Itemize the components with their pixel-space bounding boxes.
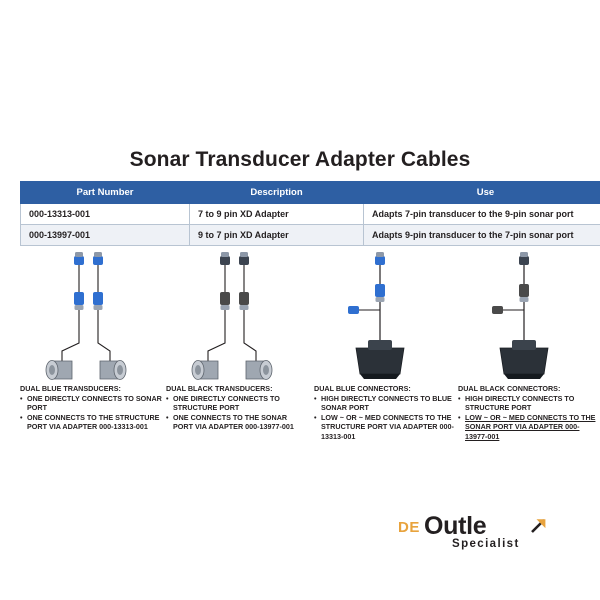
- bullet-dot: •: [458, 413, 465, 423]
- bullet-dot: •: [458, 394, 465, 404]
- column-header-description: Description: [190, 182, 364, 204]
- bullet-dot: •: [314, 394, 321, 404]
- figure-dual-blue-transducers: DUAL BLUE TRANSDUCERS: • ONE DIRECTLY CO…: [14, 248, 164, 463]
- caption-heading: DUAL BLUE TRANSDUCERS:: [20, 384, 162, 394]
- page-title: Sonar Transducer Adapter Cables: [0, 148, 600, 172]
- dual-transducer-diagram-icon: [160, 248, 310, 383]
- bullet-dot: •: [166, 394, 173, 404]
- bullet-dot: •: [20, 394, 27, 404]
- caption-bullet: • LOW ~ OR ~ MED CONNECTS TO THE STRUCTU…: [314, 413, 456, 442]
- cell-part-number: 000-13313-001: [21, 204, 190, 225]
- caption-bullet-text: HIGH DIRECTLY CONNECTS TO BLUE SONAR POR…: [321, 394, 456, 413]
- caption-heading: DUAL BLUE CONNECTORS:: [314, 384, 456, 394]
- caption-bullet-text: ONE DIRECTLY CONNECTS TO STRUCTURE PORT: [173, 394, 308, 413]
- table-row: 000-13313-001 7 to 9 pin XD Adapter Adap…: [21, 204, 600, 225]
- bullet-dot: •: [166, 413, 173, 423]
- caption-bullet: • ONE CONNECTS TO THE SONAR PORT VIA ADA…: [166, 413, 308, 432]
- table-header-row: Part Number Description Use: [21, 182, 600, 204]
- caption-heading: DUAL BLACK CONNECTORS:: [458, 384, 600, 394]
- column-header-part-number: Part Number: [21, 182, 190, 204]
- arrow-icon: [529, 515, 549, 535]
- caption-bullet-text: ONE DIRECTLY CONNECTS TO SONAR PORT: [27, 394, 162, 413]
- dual-transducer-diagram-icon: [14, 248, 164, 383]
- table-row: 000-13997-001 9 to 7 pin XD Adapter Adap…: [21, 225, 600, 246]
- figure-gallery: DUAL BLUE TRANSDUCERS: • ONE DIRECTLY CO…: [0, 248, 600, 463]
- caption-bullet: • ONE DIRECTLY CONNECTS TO SONAR PORT: [20, 394, 162, 413]
- cell-description: 9 to 7 pin XD Adapter: [190, 225, 364, 246]
- bullet-dot: •: [20, 413, 27, 423]
- caption-bullet: • ONE CONNECTS TO THE STRUCTURE PORT VIA…: [20, 413, 162, 432]
- figure-dual-blue-connectors: DUAL BLUE CONNECTORS: • HIGH DIRECTLY CO…: [308, 248, 458, 463]
- brand-logo: DE Outle Specialist: [398, 512, 578, 558]
- caption-bullet: • HIGH DIRECTLY CONNECTS TO STRUCTURE PO…: [458, 394, 600, 413]
- caption-bullet: • ONE DIRECTLY CONNECTS TO STRUCTURE POR…: [166, 394, 308, 413]
- figure-caption: DUAL BLACK TRANSDUCERS: • ONE DIRECTLY C…: [166, 384, 308, 432]
- caption-bullet: • LOW ~ OR ~ MED CONNECTS TO THE SONAR P…: [458, 413, 600, 442]
- adapter-cable-table: Part Number Description Use 000-13313-00…: [20, 181, 600, 246]
- figure-dual-black-transducers: DUAL BLACK TRANSDUCERS: • ONE DIRECTLY C…: [160, 248, 310, 463]
- caption-bullet-text: LOW ~ OR ~ MED CONNECTS TO THE STRUCTURE…: [321, 413, 456, 442]
- cell-description: 7 to 9 pin XD Adapter: [190, 204, 364, 225]
- caption-bullet-text: ONE CONNECTS TO THE SONAR PORT VIA ADAPT…: [173, 413, 308, 432]
- cell-use: Adapts 7-pin transducer to the 9-pin son…: [364, 204, 600, 225]
- caption-bullet-text: LOW ~ OR ~ MED CONNECTS TO THE SONAR POR…: [465, 413, 600, 442]
- logo-de-text: DE: [398, 519, 420, 536]
- logo-specialist-text: Specialist: [452, 538, 520, 550]
- figure-dual-black-connectors: DUAL BLACK CONNECTORS: • HIGH DIRECTLY C…: [452, 248, 600, 463]
- caption-heading: DUAL BLACK TRANSDUCERS:: [166, 384, 308, 394]
- bullet-dot: •: [314, 413, 321, 423]
- cell-use: Adapts 9-pin transducer to the 7-pin son…: [364, 225, 600, 246]
- logo-outlet-text: Outle: [424, 512, 486, 541]
- figure-caption: DUAL BLUE CONNECTORS: • HIGH DIRECTLY CO…: [314, 384, 456, 441]
- single-transducer-diagram-icon: [452, 248, 600, 383]
- column-header-use: Use: [364, 182, 600, 204]
- figure-caption: DUAL BLACK CONNECTORS: • HIGH DIRECTLY C…: [458, 384, 600, 441]
- caption-bullet: • HIGH DIRECTLY CONNECTS TO BLUE SONAR P…: [314, 394, 456, 413]
- figure-caption: DUAL BLUE TRANSDUCERS: • ONE DIRECTLY CO…: [20, 384, 162, 432]
- caption-bullet-text: ONE CONNECTS TO THE STRUCTURE PORT VIA A…: [27, 413, 162, 432]
- page-root: Sonar Transducer Adapter Cables Part Num…: [0, 0, 600, 600]
- cell-part-number: 000-13997-001: [21, 225, 190, 246]
- caption-bullet-text: HIGH DIRECTLY CONNECTS TO STRUCTURE PORT: [465, 394, 600, 413]
- single-transducer-diagram-icon: [308, 248, 458, 383]
